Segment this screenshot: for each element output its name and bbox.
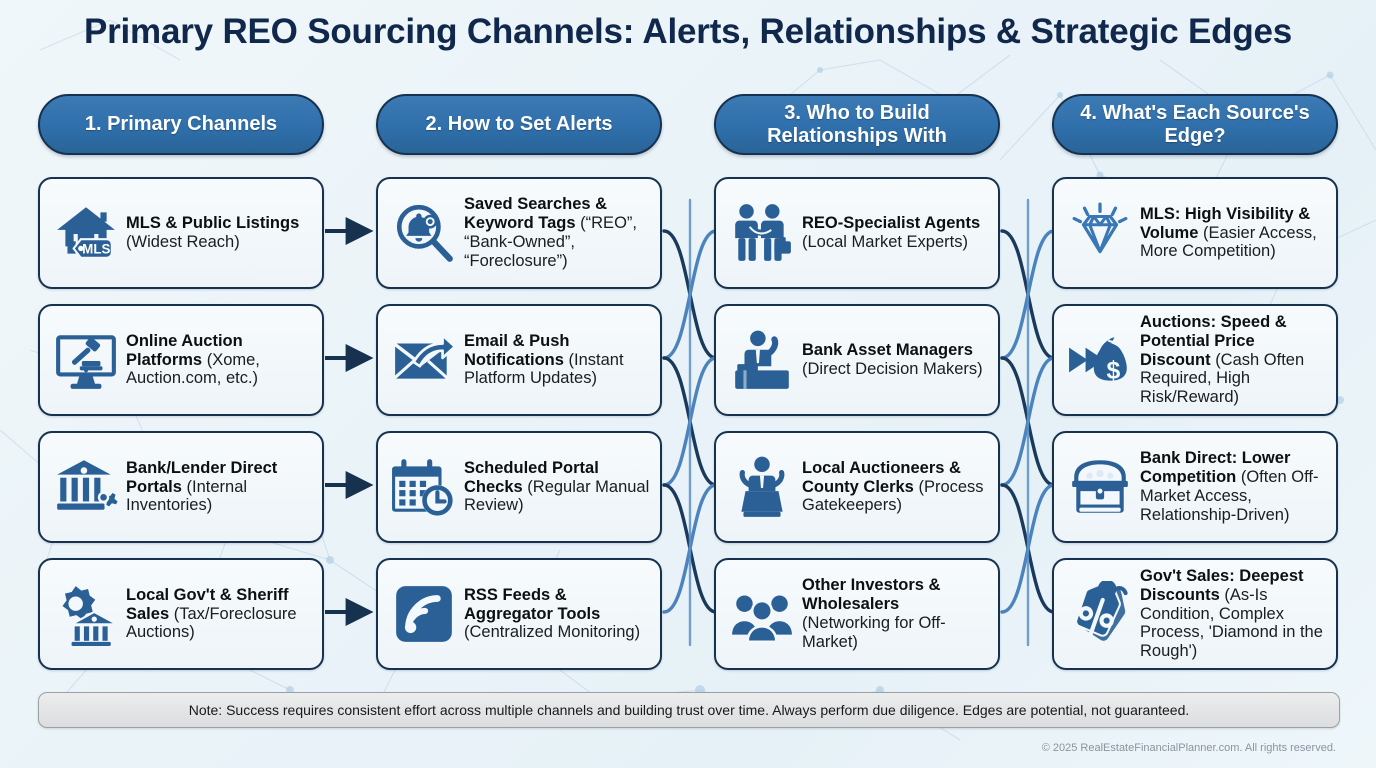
column-header-3[interactable]: 3. Who to Build Relationships With (714, 94, 1000, 155)
card-bold: Gov't Sales: Deepest Discounts (1140, 567, 1304, 604)
card-email-push-notifications[interactable]: Email & Push Notifications (Instant Plat… (376, 304, 662, 416)
card-text: Other Investors & Wholesalers (Networkin… (802, 576, 990, 651)
card-text: Email & Push Notifications (Instant Plat… (464, 332, 652, 388)
monitor-gavel-icon (46, 320, 126, 400)
treasure-chest-icon (1060, 447, 1140, 527)
arrow-col1-col2 (325, 231, 368, 612)
card-text: Bank Direct: Lower Competition (Often Of… (1140, 449, 1328, 524)
card-auctions-speed-price-discount[interactable]: $ Auctions: Speed & Potential Price Disc… (1052, 304, 1338, 416)
fast-forward-money-bag-icon: $ (1060, 320, 1140, 400)
card-scheduled-portal-checks[interactable]: Scheduled Portal Checks (Regular Manual … (376, 431, 662, 543)
card-sub: (Networking for Off-Market) (802, 614, 946, 651)
card-text: REO-Specialist Agents (Local Market Expe… (802, 214, 990, 252)
svg-text:MLS: MLS (82, 242, 110, 257)
desk-manager-icon (722, 320, 802, 400)
card-text: Gov't Sales: Deepest Discounts (As-Is Co… (1140, 567, 1328, 661)
calendar-clock-icon (384, 447, 464, 527)
card-bold: RSS Feeds & Aggregator Tools (464, 586, 600, 623)
card-bold: Bank Asset Managers (802, 341, 973, 359)
card-text: Bank/Lender Direct Portals (Internal Inv… (126, 459, 314, 515)
card-bank-direct-lower-competition[interactable]: Bank Direct: Lower Competition (Often Of… (1052, 431, 1338, 543)
bank-gear-icon (46, 447, 126, 527)
svg-text:$: $ (1107, 358, 1121, 385)
column-header-2[interactable]: 2. How to Set Alerts (376, 94, 662, 155)
card-saved-searches-keyword-tags[interactable]: Saved Searches & Keyword Tags (“REO”, “B… (376, 177, 662, 289)
handshake-agents-icon (722, 193, 802, 273)
card-bank-asset-managers[interactable]: Bank Asset Managers (Direct Decision Mak… (714, 304, 1000, 416)
sheriff-badge-courthouse-icon (46, 574, 126, 654)
card-local-auctioneers-county-clerks[interactable]: Local Auctioneers & County Clerks (Proce… (714, 431, 1000, 543)
card-text: Auctions: Speed & Potential Price Discou… (1140, 313, 1328, 407)
card-sub: (Widest Reach) (126, 233, 240, 251)
card-list-3: REO-Specialist Agents (Local Market Expe… (714, 177, 1000, 670)
card-list-1: MLS MLS & Public Listings (Widest Reach) (38, 177, 324, 670)
diamond-sparkle-icon (1060, 193, 1140, 273)
footer-note: Note: Success requires consistent effort… (38, 692, 1340, 728)
card-mls-public-listings[interactable]: MLS MLS & Public Listings (Widest Reach) (38, 177, 324, 289)
card-text: Bank Asset Managers (Direct Decision Mak… (802, 341, 990, 379)
card-sub: (Centralized Monitoring) (464, 623, 640, 641)
page-title: Primary REO Sourcing Channels: Alerts, R… (0, 12, 1376, 52)
braid-col2-col3 (664, 200, 716, 645)
card-sub: (Local Market Experts) (802, 233, 968, 251)
people-group-icon (722, 574, 802, 654)
card-bold: Email & Push Notifications (464, 332, 569, 369)
card-text: Local Auctioneers & County Clerks (Proce… (802, 459, 990, 515)
card-govt-sales-deepest-discounts[interactable]: Gov't Sales: Deepest Discounts (As-Is Co… (1052, 558, 1338, 670)
rss-feed-icon (384, 574, 464, 654)
card-text: Saved Searches & Keyword Tags (“REO”, “B… (464, 195, 652, 270)
card-list-2: Saved Searches & Keyword Tags (“REO”, “B… (376, 177, 662, 670)
card-list-4: MLS: High Visibility & Volume (Easier Ac… (1052, 177, 1338, 670)
card-text: Local Gov't & Sheriff Sales (Tax/Foreclo… (126, 586, 314, 642)
column-how-to-set-alerts: 2. How to Set Alerts Saved (376, 94, 662, 685)
card-text: MLS: High Visibility & Volume (Easier Ac… (1140, 205, 1328, 261)
braid-col3-col4 (1002, 200, 1054, 645)
card-text: MLS & Public Listings (Widest Reach) (126, 214, 314, 252)
card-text: RSS Feeds & Aggregator Tools (Centralize… (464, 586, 652, 642)
infographic-canvas: Primary REO Sourcing Channels: Alerts, R… (0, 0, 1376, 768)
card-text: Scheduled Portal Checks (Regular Manual … (464, 459, 652, 515)
column-whats-each-sources-edge: 4. What's Each Source's Edge? (1052, 94, 1338, 685)
card-mls-high-visibility-volume[interactable]: MLS: High Visibility & Volume (Easier Ac… (1052, 177, 1338, 289)
column-header-4[interactable]: 4. What's Each Source's Edge? (1052, 94, 1338, 155)
card-reo-specialist-agents[interactable]: REO-Specialist Agents (Local Market Expe… (714, 177, 1000, 289)
card-text: Online Auction Platforms (Xome, Auction.… (126, 332, 314, 388)
column-who-to-build-relationships-with: 3. Who to Build Relationships With (714, 94, 1000, 685)
card-local-govt-sheriff-sales[interactable]: Local Gov't & Sheriff Sales (Tax/Foreclo… (38, 558, 324, 670)
card-bank-lender-direct-portals[interactable]: Bank/Lender Direct Portals (Internal Inv… (38, 431, 324, 543)
copyright-text: © 2025 RealEstateFinancialPlanner.com. A… (1042, 742, 1336, 754)
bell-magnifier-icon (384, 193, 464, 273)
card-rss-feeds-aggregator-tools[interactable]: RSS Feeds & Aggregator Tools (Centralize… (376, 558, 662, 670)
column-primary-channels: 1. Primary Channels MLS MLS & Public Lis… (38, 94, 324, 685)
podium-speaker-icon (722, 447, 802, 527)
card-sub: (Direct Decision Makers) (802, 360, 983, 378)
card-bold: Other Investors & Wholesalers (802, 576, 940, 613)
house-mls-tag-icon: MLS (46, 193, 126, 273)
percent-price-tag-icon (1060, 574, 1140, 654)
card-other-investors-wholesalers[interactable]: Other Investors & Wholesalers (Networkin… (714, 558, 1000, 670)
card-bold: REO-Specialist Agents (802, 214, 980, 232)
column-header-1[interactable]: 1. Primary Channels (38, 94, 324, 155)
card-online-auction-platforms[interactable]: Online Auction Platforms (Xome, Auction.… (38, 304, 324, 416)
card-bold: MLS & Public Listings (126, 214, 299, 232)
envelope-arrow-icon (384, 320, 464, 400)
